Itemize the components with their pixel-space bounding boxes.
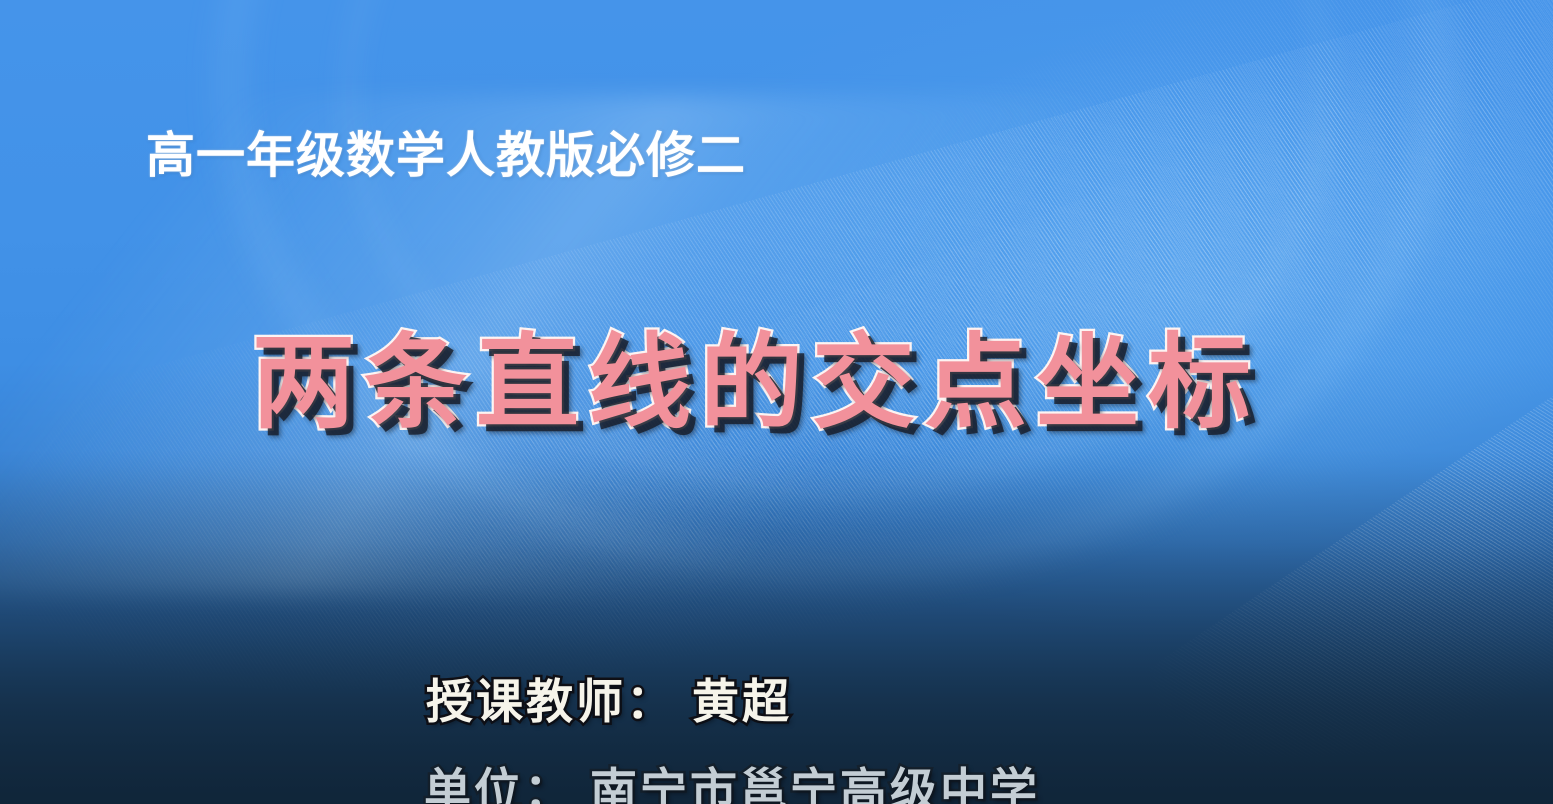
page-title: 两条直线的交点坐标	[252, 327, 1260, 438]
school-name-label: 单位： 南宁市邕宁高级中学	[424, 752, 1040, 804]
course-subtitle: 高一年级数学人教版必修二	[146, 116, 746, 187]
presentation-slide: 高一年级数学人教版必修二 两条直线的交点坐标 授课教师： 黄超 单位： 南宁市邕…	[0, 0, 1553, 804]
teacher-name-label: 授课教师： 黄超	[426, 663, 792, 732]
